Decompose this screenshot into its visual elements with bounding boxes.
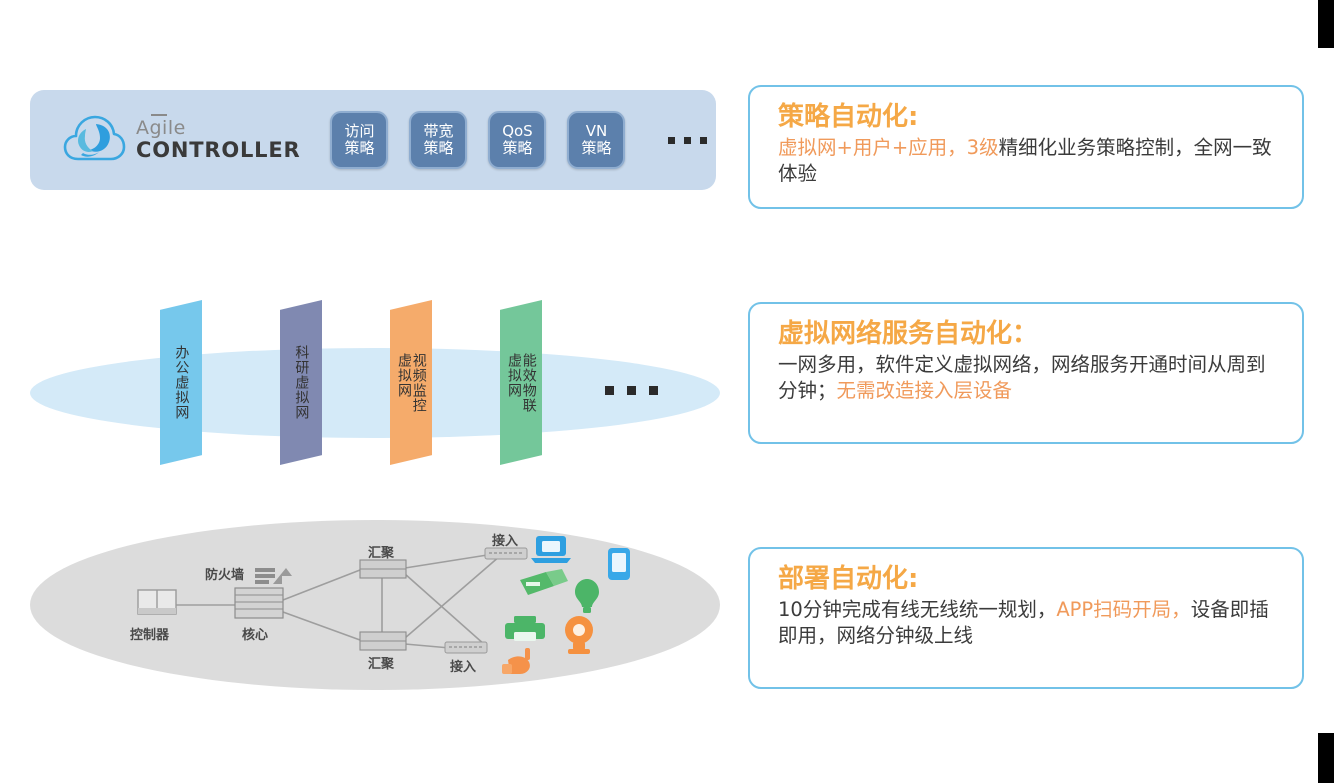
- vn-slab-label-col2: 虚拟网: [396, 353, 411, 413]
- endpoint-bullet-camera: [502, 648, 530, 674]
- policy-label-line1: 带宽: [423, 123, 453, 140]
- policy-button-qos[interactable]: QoS 策略: [488, 111, 546, 169]
- endpoint-tablet: [608, 548, 630, 580]
- vn-slab-research: 科研虚拟网: [280, 300, 322, 465]
- corner-mark-top-right: [1318, 0, 1334, 48]
- vn-slab-label-col1: 能效物联: [521, 353, 536, 413]
- topology-label-aggregation-top: 汇聚: [368, 542, 394, 561]
- endpoint-dome-camera: [565, 616, 593, 654]
- policy-label-line1: VN: [586, 123, 607, 140]
- vn-slab-label-col2: 虚拟网: [506, 353, 521, 413]
- callout-card-virtual-network-automation: 虚拟网络服务自动化： 一网多用，软件定义虚拟网络，网络服务开通时间从周到分钟；无…: [748, 302, 1304, 444]
- agile-controller-logo: Agile CONTROLLER: [62, 113, 300, 167]
- vn-more-ellipsis-icon: [605, 386, 658, 395]
- card-body-plain: 10分钟完成有线无线统一规划，: [778, 598, 1056, 621]
- card-body: 一网多用，软件定义虚拟网络，网络服务开通时间从周到分钟；无需改造接入层设备: [778, 352, 1280, 404]
- corner-mark-bottom-right: [1318, 733, 1334, 783]
- policy-button-group: 访问 策略 带宽 策略 QoS 策略 VN 策略: [330, 111, 707, 169]
- endpoint-lamp: [575, 579, 599, 613]
- policy-label-line2: 策略: [423, 140, 453, 157]
- card-title: 策略自动化:: [778, 103, 1280, 133]
- topology-label-access-bottom: 接入: [450, 656, 476, 675]
- card-body: 虚拟网+用户+应用，3级精细化业务策略控制，全网一致体验: [778, 135, 1280, 187]
- topology-node-aggregation-bottom: [360, 632, 406, 650]
- card-body-highlight: 无需改造接入层设备: [837, 379, 1013, 402]
- endpoint-laptop: [531, 536, 571, 563]
- callout-card-deployment-automation: 部署自动化: 10分钟完成有线无线统一规划，APP扫码开局，设备即插即用，网络分…: [748, 547, 1304, 689]
- topology-label-access-top: 接入: [492, 530, 518, 549]
- cloud-swirl-icon: [62, 113, 126, 167]
- policy-button-bandwidth[interactable]: 带宽 策略: [409, 111, 467, 169]
- policy-button-access[interactable]: 访问 策略: [330, 111, 388, 169]
- vn-slab-label: 视频监控 虚拟网: [396, 353, 425, 413]
- vn-slab-label: 能效物联 虚拟网: [506, 353, 535, 413]
- policy-label-line2: 策略: [581, 140, 611, 157]
- topology-label-controller: 控制器: [130, 624, 169, 643]
- vn-slab-office: 办公虚拟网: [160, 300, 202, 465]
- policy-label-line2: 策略: [502, 140, 532, 157]
- endpoint-scanner: [520, 569, 568, 595]
- logo-brand-bottom: CONTROLLER: [136, 140, 300, 161]
- card-title: 部署自动化:: [778, 565, 1280, 595]
- topology-node-aggregation-top: [360, 560, 406, 578]
- topology-node-access-top: [485, 548, 527, 559]
- card-body: 10分钟完成有线无线统一规划，APP扫码开局，设备即插即用，网络分钟级上线: [778, 597, 1280, 649]
- topology-label-firewall: 防火墙: [205, 564, 244, 583]
- logo-brand-top: Agile: [136, 119, 300, 138]
- endpoint-printer: [505, 616, 545, 641]
- card-body-highlight: APP扫码开局，: [1056, 598, 1190, 621]
- policy-button-vn[interactable]: VN 策略: [567, 111, 625, 169]
- agile-controller-panel: Agile CONTROLLER 访问 策略 带宽 策略 QoS 策略 VN 策…: [30, 90, 716, 190]
- card-body-highlight: 虚拟网+用户+应用，3级: [778, 136, 999, 159]
- topology-node-access-bottom: [445, 642, 487, 653]
- vn-slab-label: 科研虚拟网: [294, 345, 309, 420]
- policy-label-line1: 访问: [344, 123, 374, 140]
- topology-label-core: 核心: [242, 624, 268, 643]
- topology-node-firewall: [255, 568, 292, 584]
- topology-node-controller: [138, 590, 176, 614]
- virtual-network-diagram: 办公虚拟网 科研虚拟网 视频监控 虚拟网 能效物联 虚拟网: [30, 300, 720, 485]
- vn-slab-video-surveillance: 视频监控 虚拟网: [390, 300, 432, 465]
- slide-canvas: Agile CONTROLLER 访问 策略 带宽 策略 QoS 策略 VN 策…: [0, 0, 1334, 783]
- topology-node-core: [235, 588, 283, 618]
- topology-label-aggregation-bottom: 汇聚: [368, 653, 394, 672]
- network-topology-diagram: 控制器 防火墙 核心 汇聚 汇聚 接入 接入: [30, 520, 720, 690]
- vn-slab-energy-iot: 能效物联 虚拟网: [500, 300, 542, 465]
- vn-slab-label: 办公虚拟网: [174, 345, 189, 420]
- policy-label-line1: QoS: [502, 123, 533, 140]
- vn-slab-label-col1: 视频监控: [411, 353, 426, 413]
- card-title: 虚拟网络服务自动化：: [778, 320, 1280, 350]
- policy-more-ellipsis-icon: [668, 137, 707, 144]
- policy-label-line2: 策略: [344, 140, 374, 157]
- vn-slab-label-col1: 办公虚拟网: [174, 345, 189, 420]
- callout-card-policy-automation: 策略自动化: 虚拟网+用户+应用，3级精细化业务策略控制，全网一致体验: [748, 85, 1304, 209]
- vn-slab-label-col1: 科研虚拟网: [294, 345, 309, 420]
